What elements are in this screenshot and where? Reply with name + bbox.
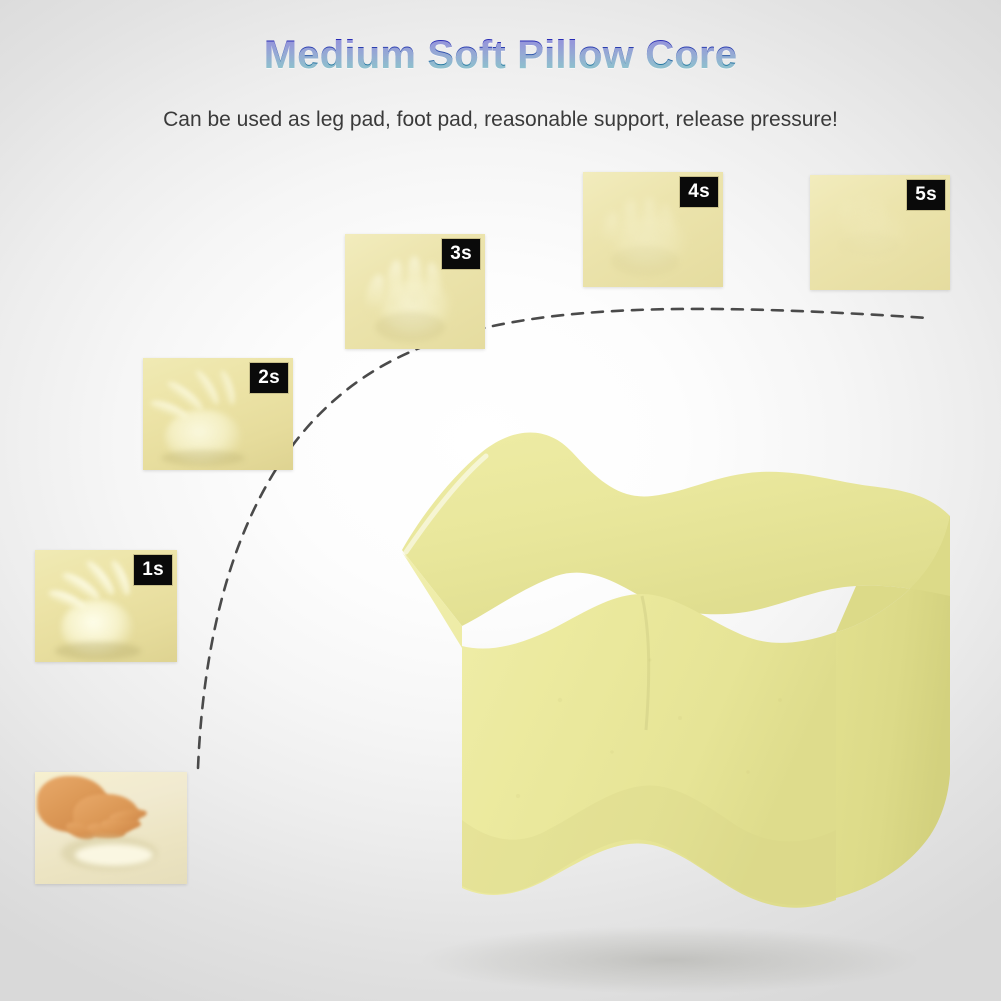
badge-5s: 5s [906,179,946,211]
handprint-shadow [611,246,679,276]
thumb-4s: 4s [583,172,723,287]
product-shadow [420,926,920,994]
badge-1s: 1s [133,554,173,586]
handprint-shadow [840,233,900,257]
thumb-3s: 3s [345,234,485,349]
product-image-knee-pillow [350,400,990,1000]
thumb-5s: 5s [810,175,950,290]
handprint-shadow [375,312,445,342]
infographic-canvas: Medium Soft Pillow Core Can be used as l… [0,0,1001,1001]
badge-2s: 2s [249,362,289,394]
handprint-shadow [161,450,245,466]
thumb-hand-press [35,772,187,884]
press-highlight [75,844,153,866]
thumb-2s: 2s [143,358,293,470]
handprint-finger-3 [407,256,422,304]
badge-4s: 4s [679,176,719,208]
page-subtitle: Can be used as leg pad, foot pad, reason… [0,108,1001,132]
page-title: Medium Soft Pillow Core [0,33,1001,78]
badge-3s: 3s [441,238,481,270]
thumb-1s: 1s [35,550,177,662]
handprint-shadow [55,642,141,660]
